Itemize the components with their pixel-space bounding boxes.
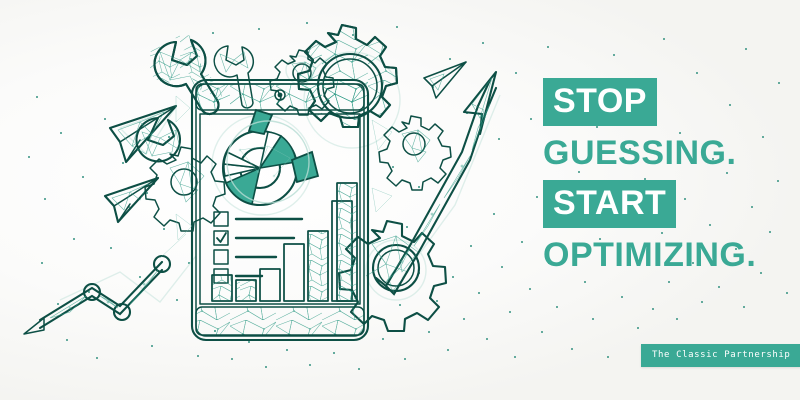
logo-badge[interactable]: The Classic Partnership: [641, 344, 800, 367]
logo-text: The Classic Partnership: [652, 350, 790, 360]
banner-canvas: .ln { fill:none; stroke:#0d4f45; stroke-…: [0, 0, 800, 400]
headline-word-guessing: GUESSING.: [543, 135, 736, 171]
headline-word-stop: STOP: [543, 78, 657, 126]
growth-arrow: [376, 72, 496, 294]
gear-icon-lower-left: [145, 147, 225, 231]
list-item: [214, 231, 294, 245]
headline-word-start: START: [543, 180, 676, 228]
headline-block: STOP GUESSING. START OPTIMIZING.: [543, 78, 793, 273]
checklist: [214, 212, 302, 283]
donut-chart: [223, 110, 318, 205]
gear-icon-mid-right: [379, 116, 451, 190]
list-item: [214, 212, 302, 226]
bar-chart: [212, 183, 357, 301]
headline-word-optimizing: OPTIMIZING.: [543, 237, 756, 273]
headline-row-4: OPTIMIZING.: [543, 237, 793, 273]
headline-row-2: GUESSING.: [543, 135, 793, 171]
list-item: [214, 250, 276, 264]
paper-plane-icon-3: [424, 62, 466, 98]
headline-row-3: START: [543, 180, 793, 228]
headline-row-1: STOP: [543, 78, 793, 126]
check-icon: [217, 233, 226, 242]
growth-line: [24, 234, 186, 334]
